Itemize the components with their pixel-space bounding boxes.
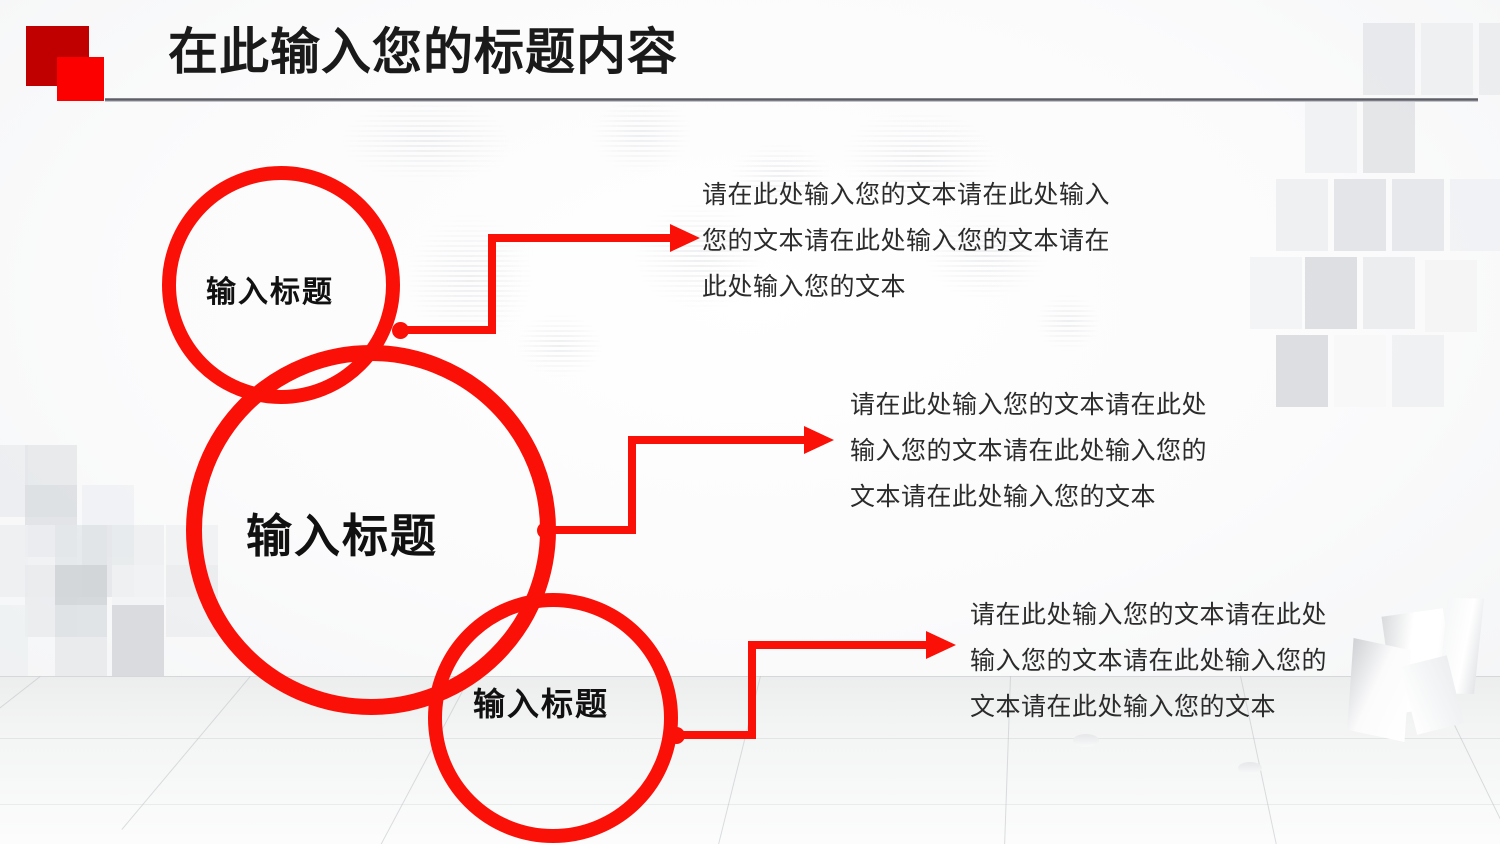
circle-node-1-label: 输入标题 [206,267,334,311]
floating-pebble-shape [1238,762,1262,774]
logo-square-bright [57,57,104,101]
circle-node-2-label: 输入标题 [246,500,438,566]
floating-pebble-shape [1073,734,1099,747]
connector-dot-3 [668,727,685,744]
page-title: 在此输入您的标题内容 [168,24,678,82]
title-divider [105,98,1478,102]
slide-canvas: 在此输入您的标题内容 输入标题 输入标题 输入标题 请在此处输入您的文本请在此处… [0,0,1500,844]
connector-dot-2 [537,522,554,539]
item-text-3: 请在此处输入您的文本请在此处 输入您的文本请在此处输入您的 文本请在此处输入您的… [970,592,1440,730]
item-text-1: 请在此处输入您的文本请在此处输入 您的文本请在此处输入您的文本请在 此处输入您的… [702,172,1222,310]
connector-dot-1 [392,322,409,339]
item-text-2: 请在此处输入您的文本请在此处 输入您的文本请在此处输入您的 文本请在此处输入您的… [850,382,1320,520]
circle-node-3-label: 输入标题 [473,679,609,725]
